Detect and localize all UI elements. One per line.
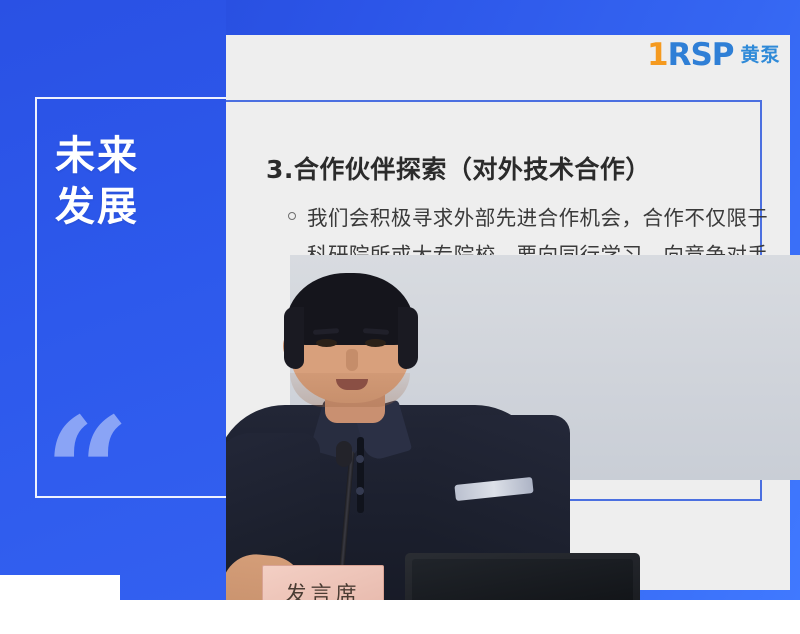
podium-nameplate: 发言席 [262,565,384,600]
left-panel-title-line2: 发展 [55,182,215,233]
slide-heading: 3.合作伙伴探索（对外技术合作） [266,150,651,186]
bottom-white-strip [0,600,800,634]
speaker-hair-side-right [398,307,418,369]
speaker-nose [346,349,358,371]
laptop-screen [412,559,633,600]
shirt-button-bottom [356,487,364,495]
microphone-head [336,441,352,467]
left-panel-title-line1: 未来 [55,131,215,182]
speaker-sleeve-left [212,433,320,573]
shirt-placket [357,437,364,513]
logo-digit: 1 [647,37,668,73]
bullet-circle-outline-icon [288,212,296,220]
speaker-eye-right [365,339,386,347]
logo-letters: RSP [668,37,734,73]
speaker-hair-side-left [284,307,304,369]
slide-stage: 1RSP 黄泵 3.合作伙伴探索（对外技术合作） 我们会积极寻求外部先进合作机会… [0,0,800,634]
logo-wordmark: 1RSP [647,40,734,71]
shirt-button-top [356,455,364,463]
bottom-left-white-strip [0,575,120,634]
nameplate-label: 发言席 [286,578,361,600]
logo-chinese-name: 黄泵 [741,46,781,65]
left-panel-title: 未来 发展 [55,131,215,233]
left-blue-panel: “ 未来 发展 [0,0,226,600]
speaker-eye-left [316,339,337,347]
brand-logo: 1RSP 黄泵 [647,36,781,74]
